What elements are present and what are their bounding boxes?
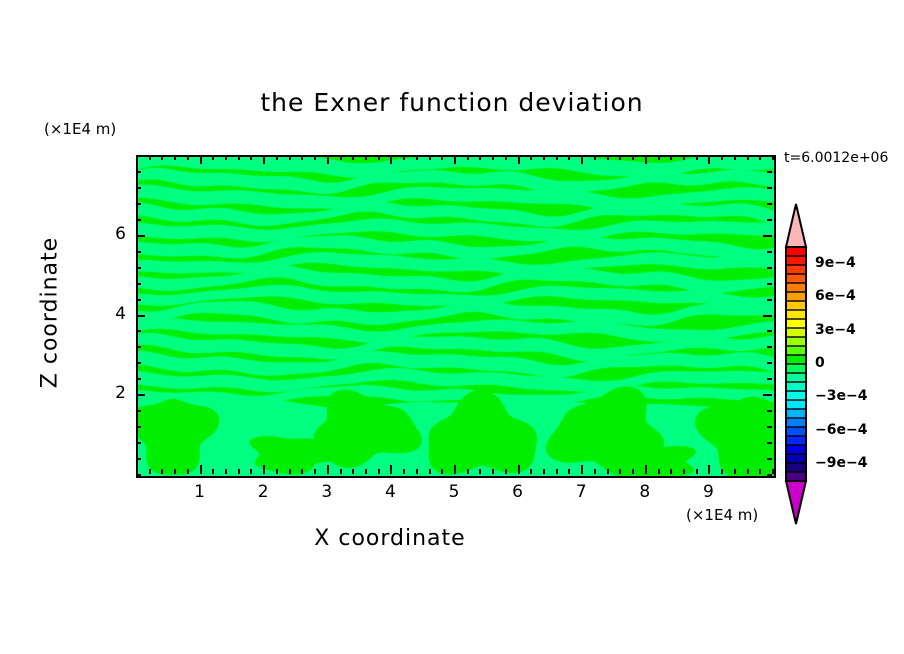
colorbar-over-arrow <box>786 204 806 247</box>
x-tick-label: 6 <box>504 482 532 502</box>
colorbar-tick-label: −3e−4 <box>815 388 867 404</box>
y-tick-label: 2 <box>104 383 126 403</box>
colorbar-svg <box>781 203 811 525</box>
colorbar-swatch <box>786 391 806 401</box>
colorbar-swatch <box>786 283 806 293</box>
colorbar-swatch <box>786 337 806 347</box>
contour-plot-area[interactable] <box>136 155 776 478</box>
colorbar-swatch <box>786 400 806 410</box>
colorbar-swatch <box>786 355 806 365</box>
x-tick-label: 1 <box>186 482 214 502</box>
y-axis-title: Z coordinate <box>38 203 63 423</box>
colorbar-tick-label: −6e−4 <box>815 422 867 438</box>
x-tick-label: 2 <box>249 482 277 502</box>
x-axis-title: X coordinate <box>0 526 780 551</box>
x-tick-label: 9 <box>694 482 722 502</box>
colorbar-under-arrow <box>786 481 806 524</box>
colorbar-tick-label: 6e−4 <box>815 288 856 304</box>
colorbar-swatch <box>786 265 806 275</box>
colorbar-swatch <box>786 310 806 320</box>
colorbar-tick-label: 0 <box>815 355 825 371</box>
colorbar-swatch <box>786 256 806 266</box>
colorbar-swatch <box>786 463 806 473</box>
colorbar[interactable] <box>781 203 811 525</box>
colorbar-swatch <box>786 382 806 392</box>
x-tick-label: 7 <box>567 482 595 502</box>
colorbar-swatch <box>786 364 806 374</box>
x-tick-label: 4 <box>376 482 404 502</box>
colorbar-swatch <box>786 409 806 419</box>
colorbar-swatch <box>786 427 806 437</box>
colorbar-swatch <box>786 373 806 383</box>
colorbar-tick-label: 9e−4 <box>815 255 856 271</box>
y-tick-label: 6 <box>104 224 126 244</box>
colorbar-tick-label: 3e−4 <box>815 322 856 338</box>
colorbar-swatch <box>786 301 806 311</box>
chart-title: the Exner function deviation <box>0 88 904 117</box>
colorbar-swatch <box>786 418 806 428</box>
colorbar-swatch <box>786 274 806 284</box>
x-axis-unit-label: (×1E4 m) <box>686 506 758 524</box>
contour-field-canvas <box>138 157 774 476</box>
colorbar-tick-label: −9e−4 <box>815 455 867 471</box>
y-axis-unit-label: (×1E4 m) <box>44 120 116 138</box>
x-tick-label: 5 <box>440 482 468 502</box>
colorbar-swatch <box>786 247 806 257</box>
colorbar-swatch <box>786 319 806 329</box>
timestamp-label: t=6.0012e+06 <box>784 150 888 166</box>
colorbar-swatch <box>786 445 806 455</box>
x-tick-label: 8 <box>631 482 659 502</box>
colorbar-swatch <box>786 328 806 338</box>
colorbar-swatch <box>786 292 806 302</box>
colorbar-swatch <box>786 436 806 446</box>
colorbar-swatch <box>786 346 806 356</box>
x-tick-label: 3 <box>313 482 341 502</box>
y-tick-label: 4 <box>104 304 126 324</box>
colorbar-swatch <box>786 454 806 464</box>
